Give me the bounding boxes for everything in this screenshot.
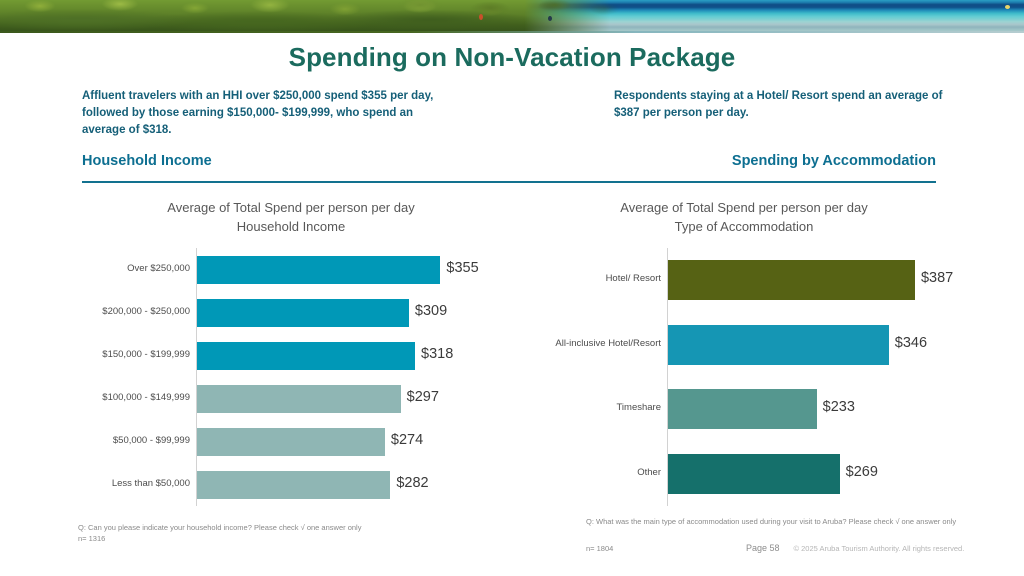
- bar-category-label: Over $250,000: [78, 263, 190, 274]
- chart-accommodation: Average of Total Spend per person per da…: [524, 198, 964, 506]
- dark-buoy-marker: [548, 16, 552, 21]
- bar: [668, 260, 915, 300]
- orange-buoy-marker: [479, 14, 483, 20]
- chart-title-line1: Average of Total Spend per person per da…: [620, 200, 867, 215]
- page-title: Spending on Non-Vacation Package: [0, 42, 1024, 73]
- chart-title-line2: Household Income: [76, 217, 506, 236]
- bar-value-label: $297: [407, 389, 439, 405]
- y-axis-line: [196, 248, 197, 506]
- footnote-sample-size: n= 1804: [586, 544, 746, 553]
- chart-title-household-income: Average of Total Spend per person per da…: [76, 198, 506, 236]
- bar: [668, 389, 817, 429]
- bar-category-label: All-inclusive Hotel/Resort: [529, 338, 661, 349]
- section-heading-household-income: Household Income: [82, 153, 212, 169]
- bar-category-label: Timeshare: [529, 402, 661, 413]
- insight-text-accommodation: Respondents staying at a Hotel/ Resort s…: [614, 88, 969, 122]
- section-heading-spending-by-accommodation: Spending by Accommodation: [732, 153, 936, 169]
- bar-category-label: $100,000 - $149,999: [78, 392, 190, 403]
- bar-value-label: $346: [895, 335, 927, 351]
- bar-value-label: $233: [823, 399, 855, 415]
- chart-household-income: Average of Total Spend per person per da…: [76, 198, 506, 506]
- bar: [197, 385, 401, 413]
- photo-bottom-edge: [0, 31, 1024, 33]
- bar-value-label: $355: [446, 260, 478, 276]
- bar-category-label: Less than $50,000: [78, 478, 190, 489]
- bar-value-label: $274: [391, 432, 423, 448]
- mangrove-foliage-midground: [380, 0, 640, 27]
- footnote-accommodation: Q: What was the main type of accommodati…: [586, 516, 1016, 527]
- bar: [197, 299, 409, 327]
- bar-category-label: Hotel/ Resort: [529, 273, 661, 284]
- bar: [668, 325, 889, 365]
- footnote-household-income: Q: Can you please indicate your househol…: [78, 522, 478, 544]
- footnote-sample-size: n= 1316: [78, 533, 478, 544]
- plot-area-accommodation: Hotel/ Resort$387All-inclusive Hotel/Res…: [524, 248, 964, 506]
- bar: [668, 454, 840, 494]
- section-divider: [82, 181, 936, 183]
- bar: [197, 428, 385, 456]
- footnote-question: Q: What was the main type of accommodati…: [586, 516, 1016, 527]
- copyright-notice: © 2025 Aruba Tourism Authority. All righ…: [794, 544, 965, 553]
- bar: [197, 471, 390, 499]
- footnote-question: Q: Can you please indicate your househol…: [78, 522, 478, 533]
- bar-category-label: $150,000 - $199,999: [78, 349, 190, 360]
- insight-text-household-income: Affluent travelers with an HHI over $250…: [82, 88, 437, 139]
- bar-value-label: $309: [415, 303, 447, 319]
- distant-boat-marker: [1005, 5, 1010, 9]
- bar-category-label: Other: [529, 467, 661, 478]
- bar-value-label: $318: [421, 346, 453, 362]
- chart-title-line2: Type of Accommodation: [524, 217, 964, 236]
- page-number: Page 58: [746, 543, 780, 553]
- bar-category-label: $200,000 - $250,000: [78, 306, 190, 317]
- bar-value-label: $282: [396, 475, 428, 491]
- chart-title-accommodation: Average of Total Spend per person per da…: [524, 198, 964, 236]
- plot-area-household-income: Over $250,000$355$200,000 - $250,000$309…: [76, 248, 506, 506]
- bar-value-label: $269: [846, 464, 878, 480]
- chart-title-line1: Average of Total Spend per person per da…: [167, 200, 414, 215]
- footer-bar: n= 1804 Page 58 © 2025 Aruba Tourism Aut…: [586, 543, 1016, 553]
- bar-category-label: $50,000 - $99,999: [78, 435, 190, 446]
- bar-value-label: $387: [921, 270, 953, 286]
- header-photo-banner: [0, 0, 1024, 33]
- bar: [197, 256, 440, 284]
- bar: [197, 342, 415, 370]
